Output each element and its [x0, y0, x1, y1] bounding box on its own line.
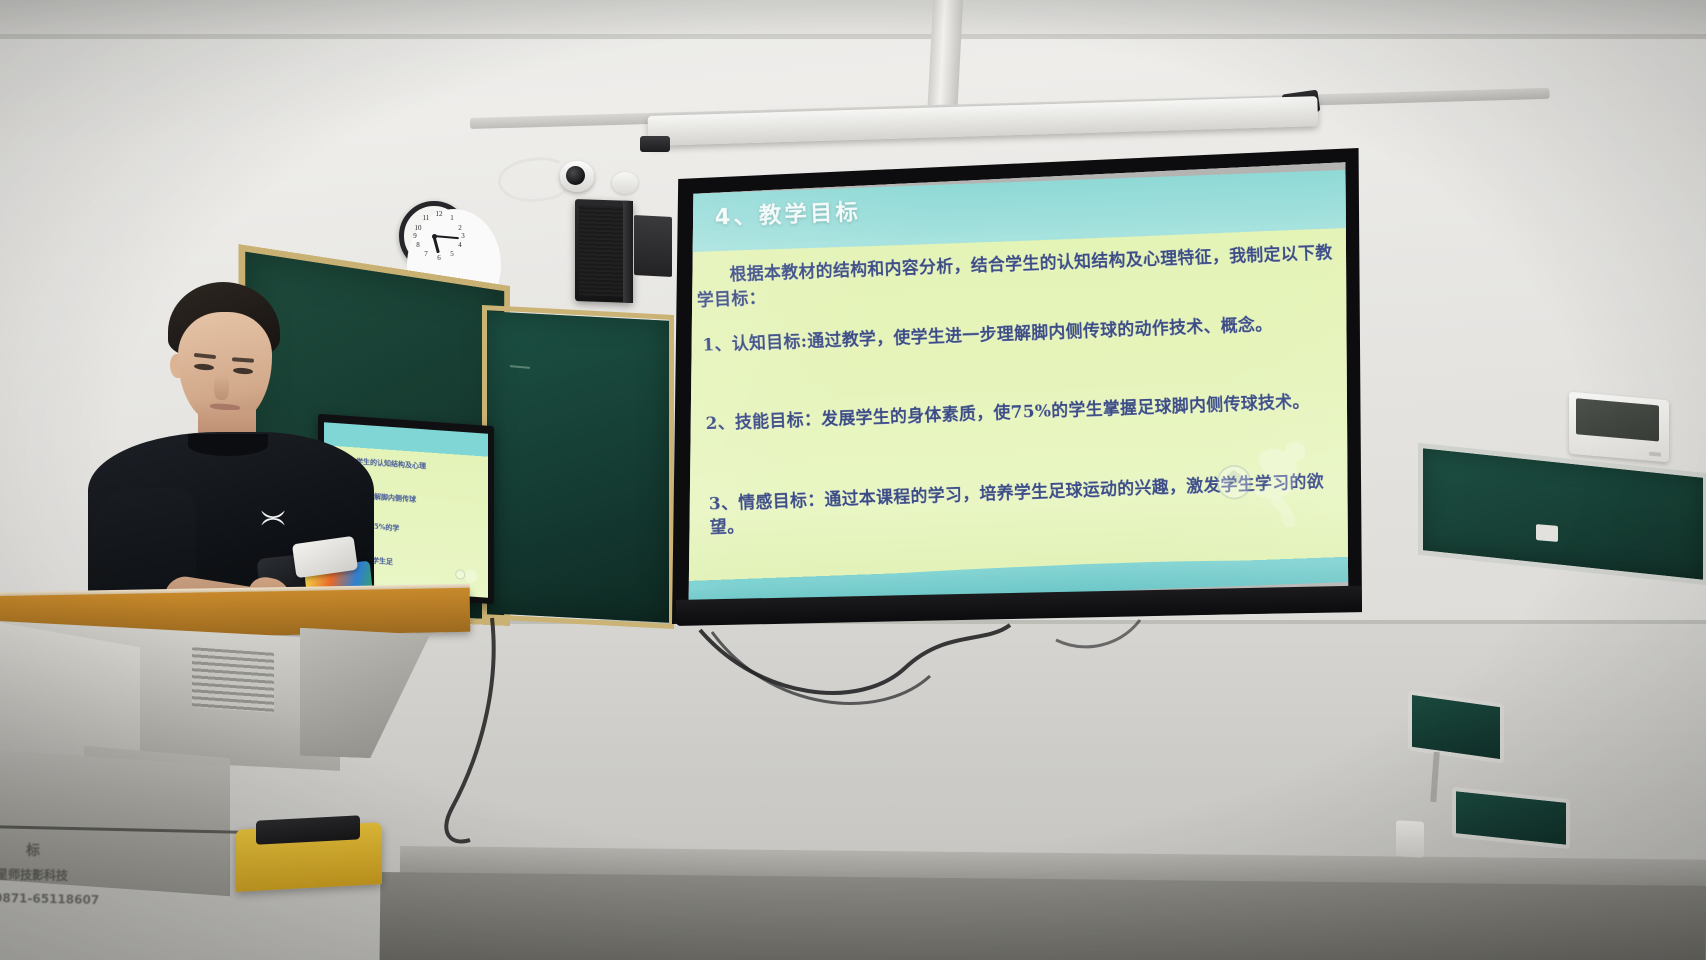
clock-center-pin: [432, 234, 437, 239]
presenter-collar: [188, 434, 268, 456]
clock-numeral: 7: [421, 251, 431, 258]
ac-control-panel[interactable]: [1569, 392, 1669, 463]
soccer-player-watermark-icon: [1198, 429, 1356, 557]
clock-numeral: 1: [447, 215, 457, 222]
shirt-brand-logo-icon: [256, 508, 290, 528]
presentation-slide: 4、教学目标 根据本教材的结构和内容分析，结合学生的认知结构及心理特征，我制定以…: [672, 148, 1362, 624]
clock-numeral: 3: [458, 233, 468, 240]
podium-plate-logo: 标: [26, 840, 40, 860]
floor: [380, 872, 1706, 960]
wall-outlet[interactable]: [1536, 524, 1558, 542]
projection-screen-bezel: 4、教学目标 根据本教材的结构和内容分析，结合学生的认知结构及心理特征，我制定以…: [672, 148, 1362, 624]
screen-housing-cap-left: [640, 136, 670, 152]
clock-numeral: 11: [421, 215, 431, 222]
smoke-detector-icon: [612, 172, 638, 194]
podium-speaker-vent: [192, 647, 274, 713]
slide-title: 4、教学目标: [714, 194, 861, 232]
ceiling-seam: [0, 34, 1706, 39]
speaker-grill: [579, 205, 623, 297]
blackboard-middle: [487, 311, 669, 623]
clock-numeral: 4: [455, 242, 465, 249]
control-panel-display: [1576, 398, 1659, 441]
clock-numeral: 12: [434, 211, 444, 218]
power-socket[interactable]: [1396, 820, 1424, 857]
clock-numeral: 2: [455, 225, 465, 232]
ceiling-band: [0, 0, 1706, 36]
projection-screen[interactable]: 4、教学目标 根据本教材的结构和内容分析，结合学生的认知结构及心理特征，我制定以…: [672, 148, 1362, 624]
clock-numeral: 10: [413, 225, 423, 232]
camera-lens-icon: [566, 166, 585, 185]
control-panel-button[interactable]: [1649, 452, 1661, 457]
clock-numeral: 6: [434, 255, 444, 262]
clock-numeral: 8: [413, 242, 423, 249]
classroom-scene: 12 1 2 3 4 5 6 7 8 9 10 11 析，结合学生的认知结构及心…: [0, 0, 1706, 960]
clock-numeral: 5: [447, 251, 457, 258]
clock-numeral: 9: [410, 233, 420, 240]
presenter: [60, 282, 390, 622]
speaker-edge: [623, 201, 633, 303]
wall-clock: 12 1 2 3 4 5 6 7 8 9 10 11: [399, 201, 469, 271]
ceiling-beam: [927, 0, 963, 120]
podium-plate-company: 星师技影科技: [0, 865, 68, 884]
podium-plate-phone: 0871-65118607: [0, 891, 99, 907]
slide-surface: 4、教学目标 根据本教材的结构和内容分析，结合学生的认知结构及心理特征，我制定以…: [672, 148, 1362, 624]
presenter-nose: [214, 374, 229, 400]
speaker-bracket: [634, 215, 672, 277]
wall-speaker: [575, 199, 633, 303]
